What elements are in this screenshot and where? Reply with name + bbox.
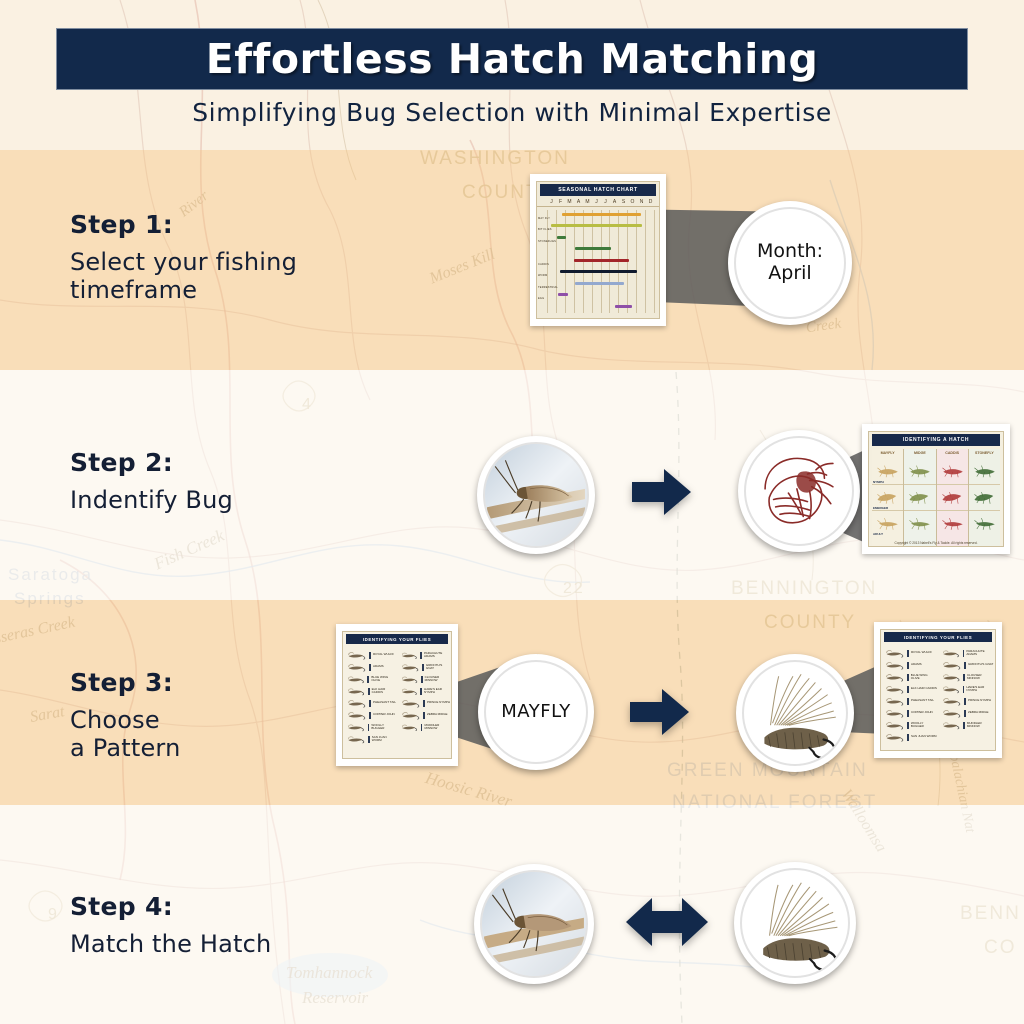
- step-4-heading: Step 4:: [70, 892, 271, 921]
- fly-illustration: [345, 674, 365, 685]
- fly-pattern-item: ADAMS: [883, 659, 937, 671]
- caddisfly-photo-art: [485, 444, 587, 546]
- flies-chart-inner-right: IDENTIFYING YOUR FLIES ROYAL WULFFADAMSB…: [880, 629, 996, 751]
- seasonal-hatch-chart-poster[interactable]: SEASONAL HATCH CHART JFMAMJJASOND MAY FL…: [530, 174, 666, 326]
- fly-pattern-name: ADAMS: [911, 663, 922, 666]
- step-4-text: Step 4: Match the Hatch: [70, 892, 271, 958]
- fly-pattern-item: GRIFFITH'S GNAT: [940, 659, 994, 671]
- fly-pattern-name: PHEASANT TAIL: [911, 699, 934, 702]
- hatch-stage-label: ADULT: [873, 532, 883, 536]
- fly-name-marker: [964, 662, 966, 669]
- fly-illustration: [883, 648, 905, 659]
- hatch-bar: [574, 259, 629, 262]
- fly-pattern-item: BLUE WING OLIVE: [345, 673, 396, 685]
- fly-illustration: [345, 698, 367, 709]
- fly-name-marker: [964, 710, 966, 717]
- fly-name-marker: [369, 664, 371, 671]
- fly-pattern-name: CLOUSER MINNOW: [967, 674, 994, 680]
- fly-pattern-name: BLUE WING OLIVE: [371, 676, 396, 682]
- fly-illustration: [399, 722, 419, 733]
- infographic-canvas: WASHINGTONCOUNTYBENNINGTONCOUNTYGREEN MO…: [0, 0, 1024, 1024]
- fly-pattern-name: ZEBRA MIDGE: [427, 713, 448, 716]
- fly-pattern-name: PHEASANT TAIL: [373, 701, 396, 704]
- pattern-name-value: MAYFLY: [501, 702, 570, 723]
- step-1-month-lens[interactable]: Month: April: [728, 201, 852, 325]
- hatch-month-tick: J: [601, 199, 610, 205]
- fly-pattern-name: ROYAL WULFF: [911, 651, 932, 654]
- fly-pattern-item: PARACHUTE ADAMS: [399, 649, 450, 661]
- fly-pattern-name: PARACHUTE ADAMS: [424, 652, 450, 658]
- fly-pattern-column: ROYAL WULFFADAMSBLUE WING OLIVEELK HAIR …: [343, 647, 397, 759]
- fly-name-marker: [963, 650, 965, 657]
- hatch-stage-cell: [937, 458, 968, 484]
- fly-pattern-item: ELK HAIR CADDIS: [345, 685, 396, 697]
- fly-illustration: [940, 684, 961, 695]
- insect-illustration: [937, 511, 968, 536]
- fly-pattern-name: SAN JUAN WORM: [372, 736, 396, 742]
- hatch-stage-cell: [937, 484, 968, 510]
- fly-illustration: [399, 698, 421, 709]
- fly-name-marker: [368, 724, 370, 731]
- hatch-type-header: STONEFLY: [969, 449, 1000, 458]
- fly-pattern-name: WOOLLY BUGGER: [371, 724, 396, 730]
- fly-pattern-name: MUDDLER MINNOW: [424, 724, 450, 730]
- fly-pattern-name: HARE'S EAR NYMPH: [424, 688, 450, 694]
- insect-illustration: [969, 458, 1000, 484]
- fly-pattern-item: PHEASANT TAIL: [883, 695, 937, 707]
- fly-name-marker: [369, 700, 371, 707]
- step-4-body: Match the Hatch: [70, 930, 271, 958]
- step-3-mayfly-lens[interactable]: MAYFLY: [478, 654, 594, 770]
- mayfly-line-drawing-icon: [746, 438, 852, 544]
- fly-pattern-column: PARACHUTE ADAMSGRIFFITH'S GNATCLOUSER MI…: [938, 645, 995, 751]
- hatch-row-label: CADDIS: [538, 263, 549, 266]
- fly-name-marker: [420, 688, 422, 695]
- fly-pattern-item: ROYAL WULFF: [345, 649, 396, 661]
- fly-name-marker: [907, 674, 909, 681]
- hatch-month-tick: F: [556, 199, 565, 205]
- fly-illustration: [883, 684, 905, 695]
- fly-pattern-name: ZEBRA MIDGE: [968, 711, 989, 714]
- step-4-arrow-both-icon: [626, 894, 708, 950]
- fly-pattern-item: ZEBRA MIDGE: [399, 709, 450, 721]
- fly-pattern-item: BLUE WING OLIVE: [883, 671, 937, 683]
- bug-photo-icon: [480, 870, 588, 978]
- fly-pattern-name: HARE'S EAR NYMPH: [966, 686, 994, 692]
- fly-name-marker: [423, 712, 425, 719]
- insect-illustration: [969, 511, 1000, 536]
- fly-pattern-item: GRIFFITH'S GNAT: [399, 661, 450, 673]
- fly-name-marker: [422, 664, 424, 671]
- fly-illustration: [399, 710, 421, 721]
- fly-name-marker: [963, 686, 965, 693]
- hatch-grid-line: [645, 210, 646, 313]
- fly-illustration: [399, 650, 418, 661]
- fly-pattern-item: COPPER JOHN: [883, 707, 937, 719]
- identify-hatch-title: IDENTIFYING A HATCH: [872, 434, 1000, 446]
- hatch-bar: [557, 236, 566, 239]
- fly-name-marker: [421, 724, 423, 731]
- identify-hatch-inner: IDENTIFYING A HATCH MAYFLYNYMPHEMERGERAD…: [868, 431, 1004, 547]
- hatch-month-tick: O: [628, 199, 637, 205]
- fly-pattern-name: ADAMS: [373, 665, 384, 668]
- identifying-your-flies-poster-right[interactable]: IDENTIFYING YOUR FLIES ROYAL WULFFADAMSB…: [874, 622, 1002, 758]
- fly-pattern-item: MUDDLER MINNOW: [940, 719, 994, 731]
- page-title: Effortless Hatch Matching: [206, 35, 819, 83]
- step-3-heading: Step 3:: [70, 668, 180, 697]
- fly-pattern-item: WOOLLY BUGGER: [345, 721, 396, 733]
- hatch-stage-cell: EMERGER: [872, 484, 903, 510]
- fly-pattern-item: PRINCE NYMPH: [940, 695, 994, 707]
- hatch-month-tick: N: [637, 199, 646, 205]
- fly-pattern-name: CLOUSER MINNOW: [425, 676, 450, 682]
- step-1-heading: Step 1:: [70, 210, 297, 239]
- hatch-bar: [615, 305, 632, 308]
- flies-chart-title-left: IDENTIFYING YOUR FLIES: [346, 634, 448, 644]
- hatch-row-label: WORM: [538, 274, 547, 277]
- fly-illustration: [883, 660, 905, 671]
- fly-pattern-name: PARACHUTE ADAMS: [966, 650, 994, 656]
- fly-illustration: [345, 710, 367, 721]
- fly-illustration: [883, 732, 905, 743]
- hatch-month-tick: M: [565, 199, 574, 205]
- fly-name-marker: [420, 652, 422, 659]
- fly-pattern-item: ZEBRA MIDGE: [940, 707, 994, 719]
- lens-rim: Month: April: [734, 207, 846, 319]
- fly-pattern-name: WOOLLY BUGGER: [911, 722, 937, 728]
- hatch-stage-cell: [969, 458, 1000, 484]
- fly-name-marker: [907, 722, 909, 729]
- flies-chart-title-right: IDENTIFYING YOUR FLIES: [884, 632, 992, 642]
- fly-illustration: [345, 722, 366, 733]
- month-value: Month: April: [736, 241, 844, 285]
- hatch-type-column: CADDIS: [937, 449, 969, 547]
- hatch-month-tick: D: [646, 199, 655, 205]
- identifying-a-hatch-poster[interactable]: IDENTIFYING A HATCH MAYFLYNYMPHEMERGERAD…: [862, 424, 1010, 554]
- identifying-your-flies-poster-left[interactable]: IDENTIFYING YOUR FLIES ROYAL WULFFADAMSB…: [336, 624, 458, 766]
- fly-illustration: [940, 660, 962, 671]
- fly-pattern-item: ELK HAIR CADDIS: [883, 683, 937, 695]
- hatch-type-column: STONEFLY: [969, 449, 1000, 547]
- fly-pattern-item: HARE'S EAR NYMPH: [399, 685, 450, 697]
- fly-illustration: [940, 648, 961, 659]
- fly-pattern-item: HARE'S EAR NYMPH: [940, 683, 994, 695]
- hatch-chart-title: SEASONAL HATCH CHART: [540, 184, 656, 196]
- fly-pattern-item: WOOLLY BUGGER: [883, 719, 937, 731]
- hatch-stage-cell: NYMPH: [872, 458, 903, 484]
- step-2-mayfly-diagram-lens[interactable]: [738, 430, 860, 552]
- fly-pattern-item: MUDDLER MINNOW: [399, 721, 450, 733]
- hatch-chart-grid: MAY FLYBIT FLIESSTONEFLIESCADDISWORMTERR…: [547, 210, 654, 313]
- step-1-text: Step 1: Select your fishing timeframe: [70, 210, 297, 305]
- fly-name-marker: [907, 662, 909, 669]
- fly-pattern-name: PRINCE NYMPH: [968, 699, 991, 702]
- hatch-month-tick: S: [619, 199, 628, 205]
- fly-name-marker: [963, 674, 965, 681]
- hatch-month-tick: M: [583, 199, 592, 205]
- identify-hatch-columns: MAYFLYNYMPHEMERGERADULTMIDGECADDISSTONEF…: [869, 449, 1003, 547]
- hatch-stage-cell: [904, 458, 935, 484]
- fly-pattern-item: COPPER JOHN: [345, 709, 396, 721]
- hatch-type-header: CADDIS: [937, 449, 968, 458]
- insect-illustration: [904, 485, 935, 510]
- fly-name-marker: [369, 652, 371, 659]
- fly-illustration: [399, 674, 419, 685]
- step-3-body: Choose a Pattern: [70, 706, 180, 763]
- hatch-row-label: EGG: [538, 297, 544, 300]
- hatch-type-header: MIDGE: [904, 449, 935, 458]
- fly-pattern-name: GRIFFITH'S GNAT: [968, 663, 993, 666]
- page-subtitle: Simplifying Bug Selection with Minimal E…: [0, 98, 1024, 127]
- flies-chart-columns-right: ROYAL WULFFADAMSBLUE WING OLIVEELK HAIR …: [881, 645, 995, 751]
- hatch-type-column: MAYFLYNYMPHEMERGERADULT: [872, 449, 904, 547]
- fly-illustration: [399, 662, 420, 673]
- fly-name-marker: [964, 698, 966, 705]
- fly-pattern-name: ELK HAIR CADDIS: [911, 687, 937, 690]
- flies-chart-inner-left: IDENTIFYING YOUR FLIES ROYAL WULFFADAMSB…: [342, 631, 452, 759]
- hatch-grid-line: [547, 210, 548, 313]
- fly-pattern-item: CLOUSER MINNOW: [940, 671, 994, 683]
- hatch-type-column: MIDGE: [904, 449, 936, 547]
- insect-illustration: [904, 458, 935, 484]
- fly-name-marker: [423, 700, 425, 707]
- fly-illustration: [345, 686, 366, 697]
- fly-illustration: [883, 696, 905, 707]
- fly-pattern-item: PRINCE NYMPH: [399, 697, 450, 709]
- hatch-bar: [562, 213, 640, 216]
- step-2-bug-photo-lens[interactable]: [477, 436, 595, 554]
- fly-pattern-name: SAN JUAN WORM: [911, 735, 937, 738]
- step-2-body: Indentify Bug: [70, 486, 233, 514]
- fly-pattern-item: SAN JUAN WORM: [345, 733, 396, 745]
- insect-illustration: [937, 458, 968, 484]
- lens-rim: [742, 660, 848, 766]
- hatch-stage-cell: [969, 510, 1000, 536]
- fly-pattern-item: ADAMS: [345, 661, 396, 673]
- fly-name-marker: [367, 676, 369, 683]
- fly-illustration: [940, 720, 961, 731]
- fly-name-marker: [421, 676, 423, 683]
- lens-rim: [740, 868, 850, 978]
- hatch-month-tick: J: [592, 199, 601, 205]
- insect-illustration: [937, 485, 968, 510]
- lens-rim: [744, 436, 854, 546]
- fly-name-marker: [907, 650, 909, 657]
- fly-illustration: [883, 720, 905, 731]
- step-2-heading: Step 2:: [70, 448, 233, 477]
- hatch-bar: [575, 282, 624, 285]
- fly-illustration: [345, 734, 366, 745]
- identify-hatch-footer: Copyright © 2013 Nabell's Fly & Tackle. …: [869, 541, 1003, 545]
- fly-name-marker: [369, 712, 371, 719]
- caddisfly-photo-art: [482, 872, 586, 976]
- fly-name-marker: [368, 688, 370, 695]
- fly-illustration: [345, 662, 367, 673]
- fly-pattern-item: PARACHUTE ADAMS: [940, 647, 994, 659]
- hatch-bar: [560, 270, 637, 273]
- fly-illustration: [345, 650, 367, 661]
- insect-illustration: [904, 511, 935, 536]
- hatch-bar: [551, 224, 642, 227]
- hatch-type-header: MAYFLY: [872, 449, 903, 458]
- hatch-stage-cell: [904, 484, 935, 510]
- hatch-chart-month-header: JFMAMJJASOND: [537, 199, 659, 207]
- fly-pattern-name: GRIFFITH'S GNAT: [426, 664, 450, 670]
- hatch-row-label: MAY FLY: [538, 217, 550, 220]
- fly-illustration: [883, 708, 905, 719]
- step-2-text: Step 2: Indentify Bug: [70, 448, 233, 514]
- hatch-bar: [558, 293, 569, 296]
- fly-illustration: [399, 686, 418, 697]
- hatch-month-tick: A: [610, 199, 619, 205]
- title-bar: Effortless Hatch Matching: [56, 28, 968, 90]
- step-2-arrow-right-icon: [632, 466, 692, 518]
- dry-fly-photo-icon: [744, 662, 846, 764]
- fly-name-marker: [907, 698, 909, 705]
- fly-pattern-name: ROYAL WULFF: [373, 653, 394, 656]
- fly-pattern-name: ELK HAIR CADDIS: [372, 688, 396, 694]
- hatch-month-tick: J: [547, 199, 556, 205]
- hatch-stage-cell: [937, 510, 968, 536]
- fly-illustration: [883, 672, 905, 683]
- fly-name-marker: [963, 722, 965, 729]
- step-4-dryfly-lens[interactable]: [734, 862, 856, 984]
- fly-pattern-name: PRINCE NYMPH: [427, 701, 450, 704]
- flies-chart-columns-left: ROYAL WULFFADAMSBLUE WING OLIVEELK HAIR …: [343, 647, 451, 759]
- hatch-grid-line: [654, 210, 655, 313]
- hatch-row-label: BIT FLIES: [538, 228, 552, 231]
- fly-pattern-item: PHEASANT TAIL: [345, 697, 396, 709]
- hatch-stage-cell: ADULT: [872, 510, 903, 536]
- fly-pattern-item: ROYAL WULFF: [883, 647, 937, 659]
- hatch-chart-inner: SEASONAL HATCH CHART JFMAMJJASOND MAY FL…: [536, 181, 660, 319]
- fly-illustration: [940, 672, 961, 683]
- bug-photo-icon: [483, 442, 589, 548]
- step-1-body: Select your fishing timeframe: [70, 248, 297, 305]
- fly-illustration: [940, 696, 962, 707]
- fly-pattern-name: MUDDLER MINNOW: [967, 722, 994, 728]
- hatch-row-label: STONEFLIES: [538, 240, 556, 243]
- step-3-arrow-right-icon: [630, 686, 690, 738]
- fly-name-marker: [907, 686, 909, 693]
- hatch-stage-cell: [969, 484, 1000, 510]
- fly-pattern-name: COPPER JOHN: [373, 713, 395, 716]
- fly-name-marker: [368, 736, 370, 743]
- dry-fly-photo-icon: [742, 870, 848, 976]
- fly-pattern-name: BLUE WING OLIVE: [911, 674, 937, 680]
- step-3-text: Step 3: Choose a Pattern: [70, 668, 180, 763]
- fly-pattern-column: ROYAL WULFFADAMSBLUE WING OLIVEELK HAIR …: [881, 645, 938, 751]
- fly-pattern-column: PARACHUTE ADAMSGRIFFITH'S GNATCLOUSER MI…: [397, 647, 451, 759]
- hatch-month-tick: A: [574, 199, 583, 205]
- insect-illustration: [969, 485, 1000, 510]
- fly-pattern-name: COPPER JOHN: [911, 711, 933, 714]
- hatch-stage-cell: [904, 510, 935, 536]
- fly-name-marker: [907, 710, 909, 717]
- fly-pattern-item: CLOUSER MINNOW: [399, 673, 450, 685]
- lens-rim: MAYFLY: [484, 660, 588, 764]
- step-3-dryfly-lens[interactable]: [736, 654, 854, 772]
- hatch-bar: [575, 247, 612, 250]
- hatch-row-label: TERRESTRIAL: [538, 286, 558, 289]
- fly-name-marker: [907, 734, 909, 741]
- step-4-bug-photo-lens[interactable]: [474, 864, 594, 984]
- fly-illustration: [940, 708, 962, 719]
- fly-pattern-item: SAN JUAN WORM: [883, 731, 937, 743]
